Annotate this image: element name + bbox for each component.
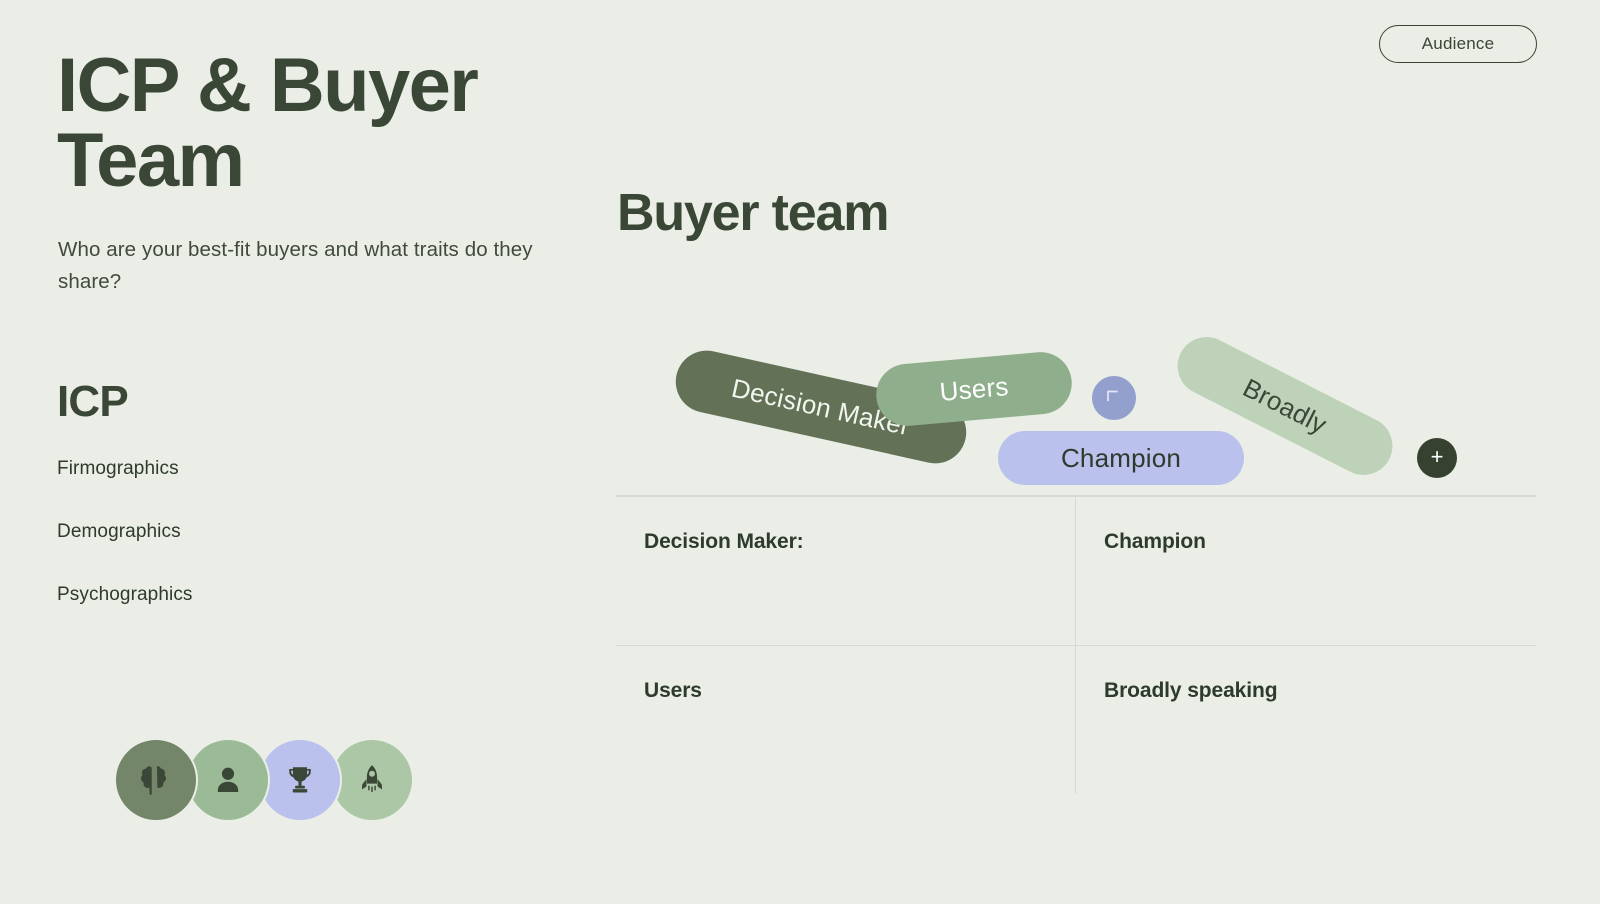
plus-icon: + <box>1431 446 1444 468</box>
brain-lightning-icon <box>137 761 175 799</box>
avatar-rocket[interactable] <box>330 738 414 822</box>
page-title: ICP & Buyer Team <box>57 48 527 198</box>
corner-bracket-badge[interactable] <box>1092 376 1136 420</box>
page-subtitle: Who are your best-fit buyers and what tr… <box>58 234 558 298</box>
buyer-team-grid: Decision Maker: Champion Users Broadly s… <box>616 495 1536 794</box>
corner-bracket-icon <box>1104 386 1124 411</box>
grid-cell-champion[interactable]: Champion <box>1076 497 1536 645</box>
add-pill-button[interactable]: + <box>1417 438 1457 478</box>
avatar-brain-lightning[interactable] <box>114 738 198 822</box>
pill-champion[interactable]: Champion <box>998 431 1244 485</box>
table-row: Decision Maker: Champion <box>616 497 1536 645</box>
grid-cell-broadly-speaking[interactable]: Broadly speaking <box>1076 646 1536 794</box>
icp-list: Firmographics Demographics Psychographic… <box>57 458 457 647</box>
grid-cell-users[interactable]: Users <box>616 646 1076 794</box>
cell-title: Users <box>644 679 1075 703</box>
icp-item-firmographics[interactable]: Firmographics <box>57 458 179 480</box>
icp-item-demographics[interactable]: Demographics <box>57 521 181 543</box>
table-row: Users Broadly speaking <box>616 645 1536 794</box>
persona-avatar-cluster <box>114 738 414 822</box>
section-title: Buyer team <box>617 183 888 243</box>
pill-users-label: Users <box>938 371 1009 408</box>
pill-champion-label: Champion <box>1061 443 1181 474</box>
cell-title: Broadly speaking <box>1104 679 1536 703</box>
person-icon <box>211 763 245 797</box>
buyer-team-pill-cluster: Decision Maker Users Champion Broadly + <box>616 340 1600 490</box>
icp-item-psychographics[interactable]: Psychographics <box>57 584 193 606</box>
cell-title: Decision Maker: <box>644 530 1075 554</box>
right-panel: Buyer team Decision Maker Users Champion… <box>616 0 1600 904</box>
rocket-icon <box>355 763 389 797</box>
left-panel: ICP & Buyer Team Who are your best-fit b… <box>57 0 597 904</box>
avatar-person[interactable] <box>186 738 270 822</box>
trophy-icon <box>283 763 317 797</box>
pill-users[interactable]: Users <box>874 350 1075 429</box>
icp-heading: ICP <box>57 377 128 427</box>
cell-title: Champion <box>1104 530 1536 554</box>
pill-broadly-label: Broadly <box>1238 372 1332 440</box>
grid-cell-decision-maker[interactable]: Decision Maker: <box>616 497 1076 645</box>
avatar-trophy[interactable] <box>258 738 342 822</box>
